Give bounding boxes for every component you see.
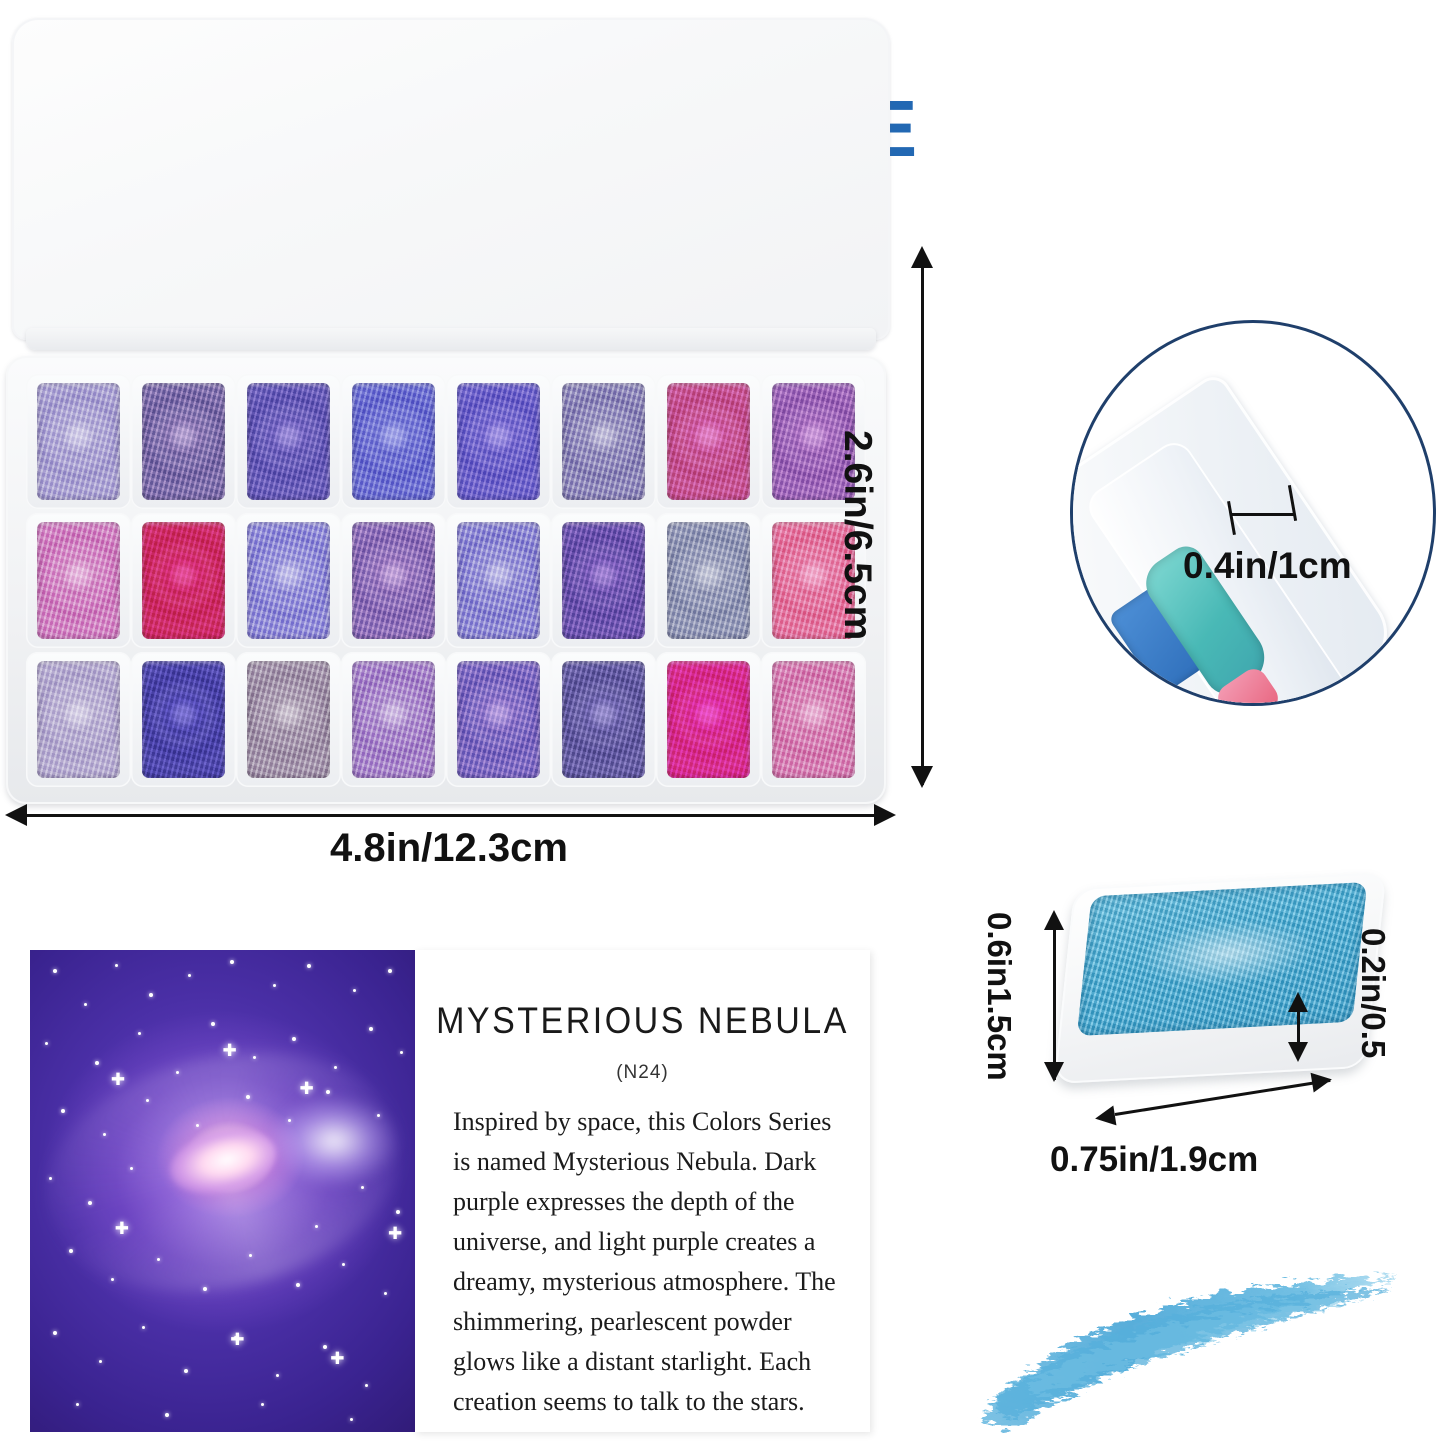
pan-2-2 bbox=[142, 522, 225, 639]
pan-3-8 bbox=[772, 661, 855, 778]
case-height-label: 2.6in/6.5cm bbox=[835, 430, 879, 640]
width-arrow-left-icon bbox=[5, 804, 27, 826]
series-title: MYSTERIOUS NEBULA bbox=[415, 1000, 870, 1042]
pan-1-2 bbox=[142, 383, 225, 500]
pan-3-6 bbox=[562, 661, 645, 778]
single-pan-body bbox=[1054, 872, 1387, 1084]
pan-cell bbox=[131, 652, 236, 787]
pan-3-4 bbox=[352, 661, 435, 778]
pan-width-arrow-left-icon bbox=[1094, 1106, 1117, 1129]
pan-cell bbox=[341, 374, 446, 509]
lid-thickness-callout: 0.4in/1cm bbox=[1070, 320, 1436, 706]
pan-cell bbox=[341, 513, 446, 648]
lid-thickness-label: 0.4in/1cm bbox=[1183, 545, 1352, 587]
pan-3-7 bbox=[667, 661, 750, 778]
pan-depth-arrow-down-icon bbox=[1288, 1042, 1308, 1062]
series-code: (N24) bbox=[415, 1062, 870, 1084]
series-description: Inspired by space, this Colors Series is… bbox=[453, 1102, 840, 1422]
product-size-infographic: PRODUCT SIZE bbox=[0, 0, 1445, 1456]
pan-1-4 bbox=[352, 383, 435, 500]
pan-cell bbox=[656, 374, 761, 509]
height-arrow-down-icon bbox=[911, 766, 933, 788]
pan-row-1 bbox=[26, 374, 866, 509]
pan-cell bbox=[551, 374, 656, 509]
series-text-card: MYSTERIOUS NEBULA (N24) Inspired by spac… bbox=[415, 950, 870, 1432]
palette-photo bbox=[0, 18, 900, 808]
pan-width-arrow-right-icon bbox=[1311, 1070, 1334, 1093]
pan-2-7 bbox=[667, 522, 750, 639]
galaxy-artwork: ✚ ✚ ✚ ✚ ✚ ✚ ✚ bbox=[30, 950, 415, 1432]
pan-cell bbox=[551, 652, 656, 787]
height-arrow-up-icon bbox=[911, 246, 933, 268]
pan-1-3 bbox=[247, 383, 330, 500]
pan-cell bbox=[236, 513, 341, 648]
pan-cell bbox=[656, 652, 761, 787]
pan-cell bbox=[131, 374, 236, 509]
pan-row-3 bbox=[26, 652, 866, 787]
pan-1-7 bbox=[667, 383, 750, 500]
width-dimension-line bbox=[16, 814, 884, 817]
pan-cell bbox=[446, 513, 551, 648]
pan-cell bbox=[26, 513, 131, 648]
pan-grid bbox=[26, 374, 866, 791]
star-field: ✚ ✚ ✚ ✚ ✚ ✚ ✚ bbox=[30, 950, 415, 1432]
pan-height-label: 0.6in1.5cm bbox=[980, 912, 1018, 1081]
pan-2-1 bbox=[37, 522, 120, 639]
series-info-card: ✚ ✚ ✚ ✚ ✚ ✚ ✚ MYSTERIOUS NEBULA (N24) In… bbox=[30, 950, 870, 1432]
pan-3-5 bbox=[457, 661, 540, 778]
pan-cell bbox=[446, 374, 551, 509]
pan-1-5 bbox=[457, 383, 540, 500]
pan-2-4 bbox=[352, 522, 435, 639]
swatch-stroke-icon bbox=[930, 1235, 1445, 1450]
pan-2-5 bbox=[457, 522, 540, 639]
width-arrow-right-icon bbox=[874, 804, 896, 826]
pan-cell bbox=[341, 652, 446, 787]
pan-width-line bbox=[1115, 1079, 1331, 1116]
pan-1-6 bbox=[562, 383, 645, 500]
palette-lid bbox=[12, 18, 890, 340]
pan-height-arrow-up-icon bbox=[1044, 910, 1064, 930]
height-dimension-line bbox=[921, 255, 924, 785]
case-width-label: 4.8in/12.3cm bbox=[330, 826, 568, 871]
pan-cell bbox=[656, 513, 761, 648]
pan-row-2 bbox=[26, 513, 866, 648]
pan-2-3 bbox=[247, 522, 330, 639]
pan-3-3 bbox=[247, 661, 330, 778]
pan-width-label: 0.75in/1.9cm bbox=[1050, 1140, 1258, 1180]
pan-cell bbox=[26, 374, 131, 509]
pan-1-1 bbox=[37, 383, 120, 500]
pan-cell bbox=[236, 652, 341, 787]
pan-height-line bbox=[1053, 920, 1056, 1080]
pan-depth-label: 0.2in/0.5 bbox=[1354, 928, 1392, 1058]
single-pan-paint-surface bbox=[1077, 882, 1368, 1036]
pan-depth-arrow-up-icon bbox=[1288, 992, 1308, 1012]
pan-3-2 bbox=[142, 661, 225, 778]
blue-paint-swatch bbox=[930, 1235, 1445, 1450]
palette-tray bbox=[6, 356, 886, 804]
pan-cell bbox=[551, 513, 656, 648]
thickness-measure-line bbox=[1231, 513, 1294, 516]
pan-2-6 bbox=[562, 522, 645, 639]
pan-cell bbox=[131, 513, 236, 648]
pan-cell bbox=[236, 374, 341, 509]
pan-3-1 bbox=[37, 661, 120, 778]
single-pan-detail: 0.6in1.5cm 0.75in/1.9cm 0.2in/0.5 bbox=[940, 870, 1445, 1200]
pan-cell bbox=[446, 652, 551, 787]
pan-cell bbox=[761, 652, 866, 787]
pan-height-arrow-down-icon bbox=[1044, 1062, 1064, 1082]
pan-cell bbox=[26, 652, 131, 787]
